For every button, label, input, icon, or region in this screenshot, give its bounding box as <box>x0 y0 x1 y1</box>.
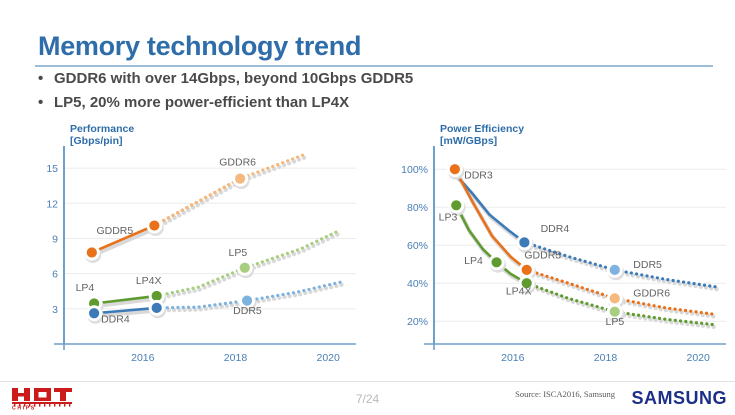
series-label-lp3: LP3 <box>439 212 458 224</box>
series-label-ddr3: DDR3 <box>464 170 493 182</box>
series-label-ddr4: DDR4 <box>541 223 570 235</box>
list-item: • GDDR6 with over 14Gbps, beyond 10Gbps … <box>38 70 698 89</box>
series-label-gddr5: GDDR5 <box>524 250 561 262</box>
series-label-ddr4: DDR4 <box>101 313 130 325</box>
data-point-ddr3[interactable] <box>447 161 464 179</box>
y-tick-label: 100% <box>401 164 428 176</box>
series-label-gddr6: GDDR6 <box>633 288 670 300</box>
samsung-logo: SAMSUNG <box>631 388 727 409</box>
page-title: Memory technology trend <box>38 31 361 62</box>
bullet-marker-icon: • <box>38 70 54 89</box>
series-label-ddr5: DDR5 <box>233 305 262 317</box>
source-credit: Source: ISCA2016, Samsung <box>515 389 615 399</box>
y-tick-label: 40% <box>407 278 428 290</box>
x-tick-label: 2018 <box>594 352 618 364</box>
series-label-lp5: LP5 <box>605 316 624 328</box>
power-efficiency-plot: 20%40%60%80%100%201620182020Power Effici… <box>392 118 732 376</box>
data-point-ddr5[interactable] <box>607 262 624 280</box>
y-tick-label: 12 <box>46 198 58 210</box>
list-item: • LP5, 20% more power-efficient than LP4… <box>38 94 698 113</box>
performance-chart: 3691215201620182020Performance[Gbps/pin]… <box>22 118 362 376</box>
y-tick-label: 80% <box>407 202 428 214</box>
data-point-lp4[interactable] <box>489 254 506 272</box>
performance-plot: 3691215201620182020Performance[Gbps/pin]… <box>22 118 362 376</box>
chart-axis-title: Performance <box>70 123 134 135</box>
series-label-gddr6: GDDR6 <box>219 157 256 169</box>
x-tick-label: 2018 <box>224 352 248 364</box>
footer-divider <box>0 381 735 382</box>
x-tick-label: 2020 <box>687 352 711 364</box>
series-label-lp4x: LP4X <box>136 275 162 287</box>
y-tick-label: 20% <box>407 316 428 328</box>
bullet-marker-icon: • <box>38 94 54 113</box>
power-efficiency-chart: 20%40%60%80%100%201620182020Power Effici… <box>392 118 732 376</box>
page-number: 7/24 <box>0 392 735 406</box>
series-label-lp5: LP5 <box>229 247 248 259</box>
chart-axis-units: [mW/GBps] <box>440 135 497 147</box>
series-label-ddr5: DDR5 <box>633 259 662 271</box>
hot-chips-logo-text: CHIPS <box>12 405 36 410</box>
chart-axis-units: [Gbps/pin] <box>70 135 123 147</box>
slide: Memory technology trend • GDDR6 with ove… <box>0 0 735 413</box>
bullet-list: • GDDR6 with over 14Gbps, beyond 10Gbps … <box>38 70 698 118</box>
series-label-lp4x: LP4X <box>506 286 532 298</box>
series-label-gddr5: GDDR5 <box>96 225 133 237</box>
y-tick-label: 6 <box>52 269 58 281</box>
x-tick-label: 2016 <box>131 352 155 364</box>
series-label-lp4: LP4 <box>76 282 95 294</box>
series-label-lp4: LP4 <box>464 255 483 267</box>
chart-axis-title: Power Efficiency <box>440 123 524 135</box>
y-tick-label: 3 <box>52 304 58 316</box>
data-point-gddr5[interactable] <box>84 245 101 263</box>
y-tick-label: 60% <box>407 240 428 252</box>
y-tick-label: 15 <box>46 163 58 175</box>
y-tick-label: 9 <box>52 233 58 245</box>
x-tick-label: 2016 <box>501 352 525 364</box>
x-tick-label: 2020 <box>317 352 341 364</box>
title-underline <box>35 65 713 67</box>
bullet-text: GDDR6 with over 14Gbps, beyond 10Gbps GD… <box>54 70 413 89</box>
bullet-text: LP5, 20% more power-efficient than LP4X <box>54 94 349 113</box>
